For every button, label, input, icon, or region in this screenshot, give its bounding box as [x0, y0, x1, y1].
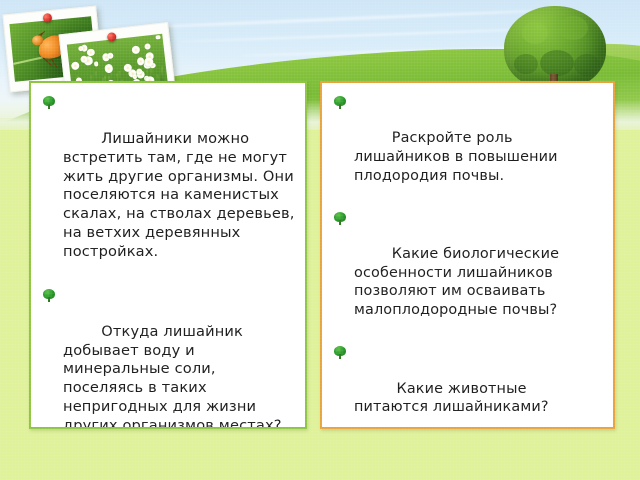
list-item-text: Какие биологические особенности лишайник…: [354, 246, 564, 318]
foliage-blob: [558, 16, 588, 40]
right-content-box: Раскройте роль лишайников в повышении пл…: [320, 81, 615, 429]
foliage-blob: [574, 54, 600, 76]
foliage-blob: [540, 50, 574, 76]
tree-bullet-icon: [334, 96, 346, 109]
daisy-flower: [155, 35, 160, 40]
tree-bullet-icon: [334, 212, 346, 225]
daisy-flower: [136, 68, 143, 75]
list-item-text: Откуда лишайник добывает воду и минераль…: [63, 323, 282, 429]
daisy-flower: [93, 61, 98, 66]
foliage-blob: [514, 54, 538, 74]
list-item: Лишайники можно встретить там, где не мо…: [41, 92, 297, 281]
list-item-text: Раскройте роль лишайников в повышении пл…: [354, 130, 562, 183]
foliage-blob: [522, 22, 548, 44]
tree-bullet-icon: [43, 96, 55, 109]
daisy-flower: [87, 48, 95, 56]
left-bullet-list: Лишайники можно встретить там, где не мо…: [31, 83, 305, 429]
list-item: Раскройте роль лишайников в повышении пл…: [332, 92, 605, 204]
daisy-flower: [144, 43, 151, 50]
tree-bullet-icon: [334, 346, 346, 359]
tree-bullet-icon: [43, 289, 55, 302]
list-item-text: Лишайники можно встретить там, где не мо…: [63, 130, 299, 260]
list-item-text: Какие животные питаются лишайниками?: [354, 381, 549, 416]
daisy-flower: [71, 61, 80, 70]
slide-canvas: Лишайники можно встретить там, где не мо…: [0, 0, 640, 480]
daisy-flower: [104, 64, 114, 74]
list-item: Какие животные питаются лишайниками?: [332, 342, 605, 429]
cloud-streak-icon: [120, 9, 540, 30]
list-item: Откуда лишайник добывает воду и минераль…: [41, 285, 297, 429]
list-item: Какие биологические особенности лишайник…: [332, 208, 605, 338]
right-bullet-list: Раскройте роль лишайников в повышении пл…: [322, 83, 613, 429]
daisy-flower: [107, 53, 113, 59]
daisy-flower: [131, 46, 140, 55]
left-content-box: Лишайники можно встретить там, где не мо…: [29, 81, 307, 429]
daisy-flower: [144, 57, 153, 66]
